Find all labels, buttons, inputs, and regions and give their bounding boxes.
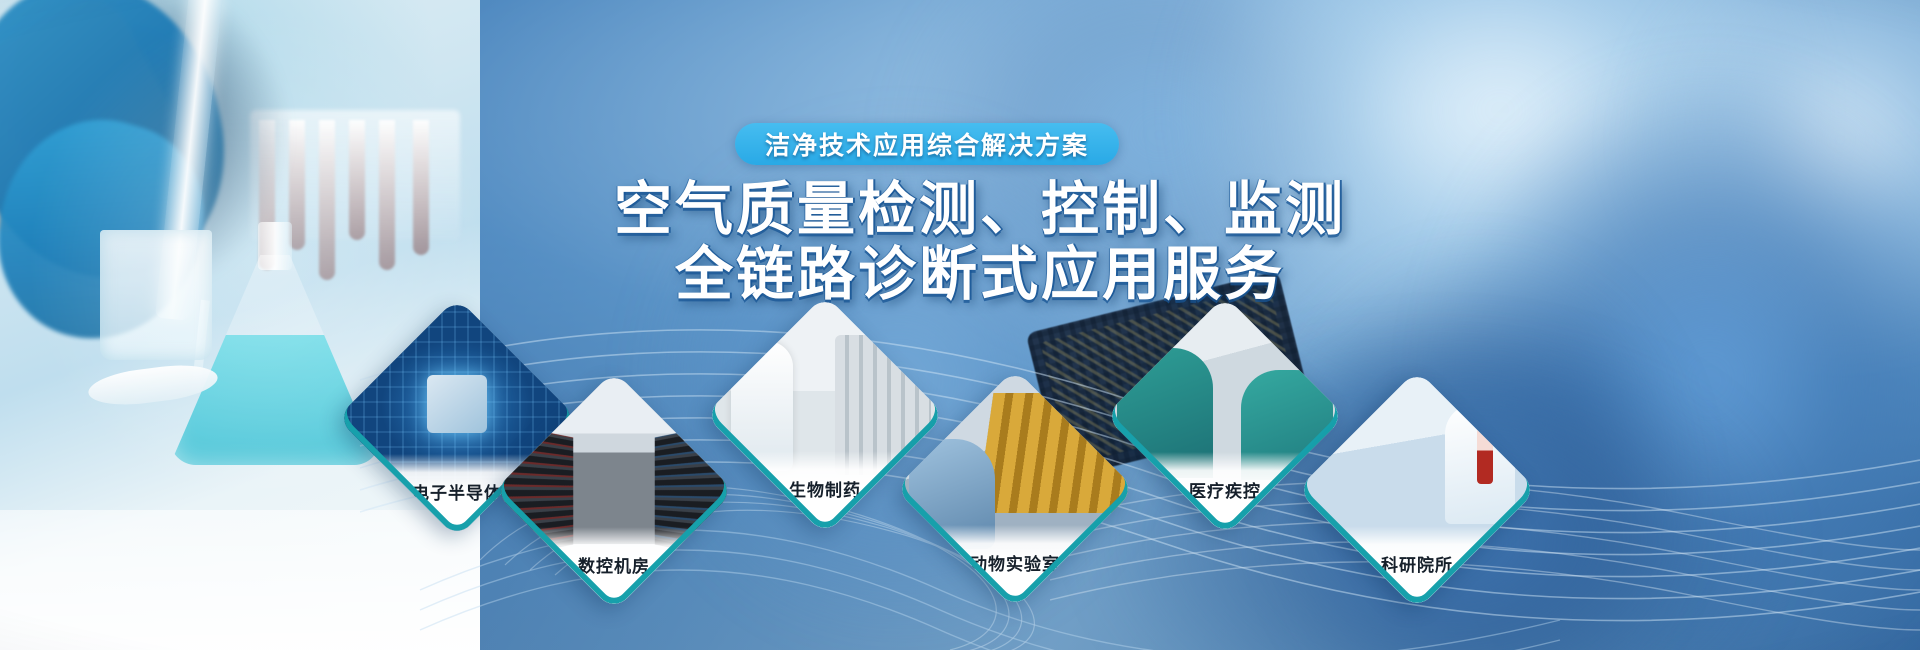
industry-card-label: 数控机房	[494, 552, 734, 611]
industry-card-label: 科研院所	[1297, 551, 1537, 610]
industry-card-row: 电子半导体 数控机房 生物制药 动物实验室	[0, 0, 1920, 650]
industry-card-label: 动物实验室	[895, 550, 1135, 609]
banner-root: 洁净技术应用综合解决方案 空气质量检测、控制、监测 全链路诊断式应用服务 电子半…	[0, 0, 1920, 650]
